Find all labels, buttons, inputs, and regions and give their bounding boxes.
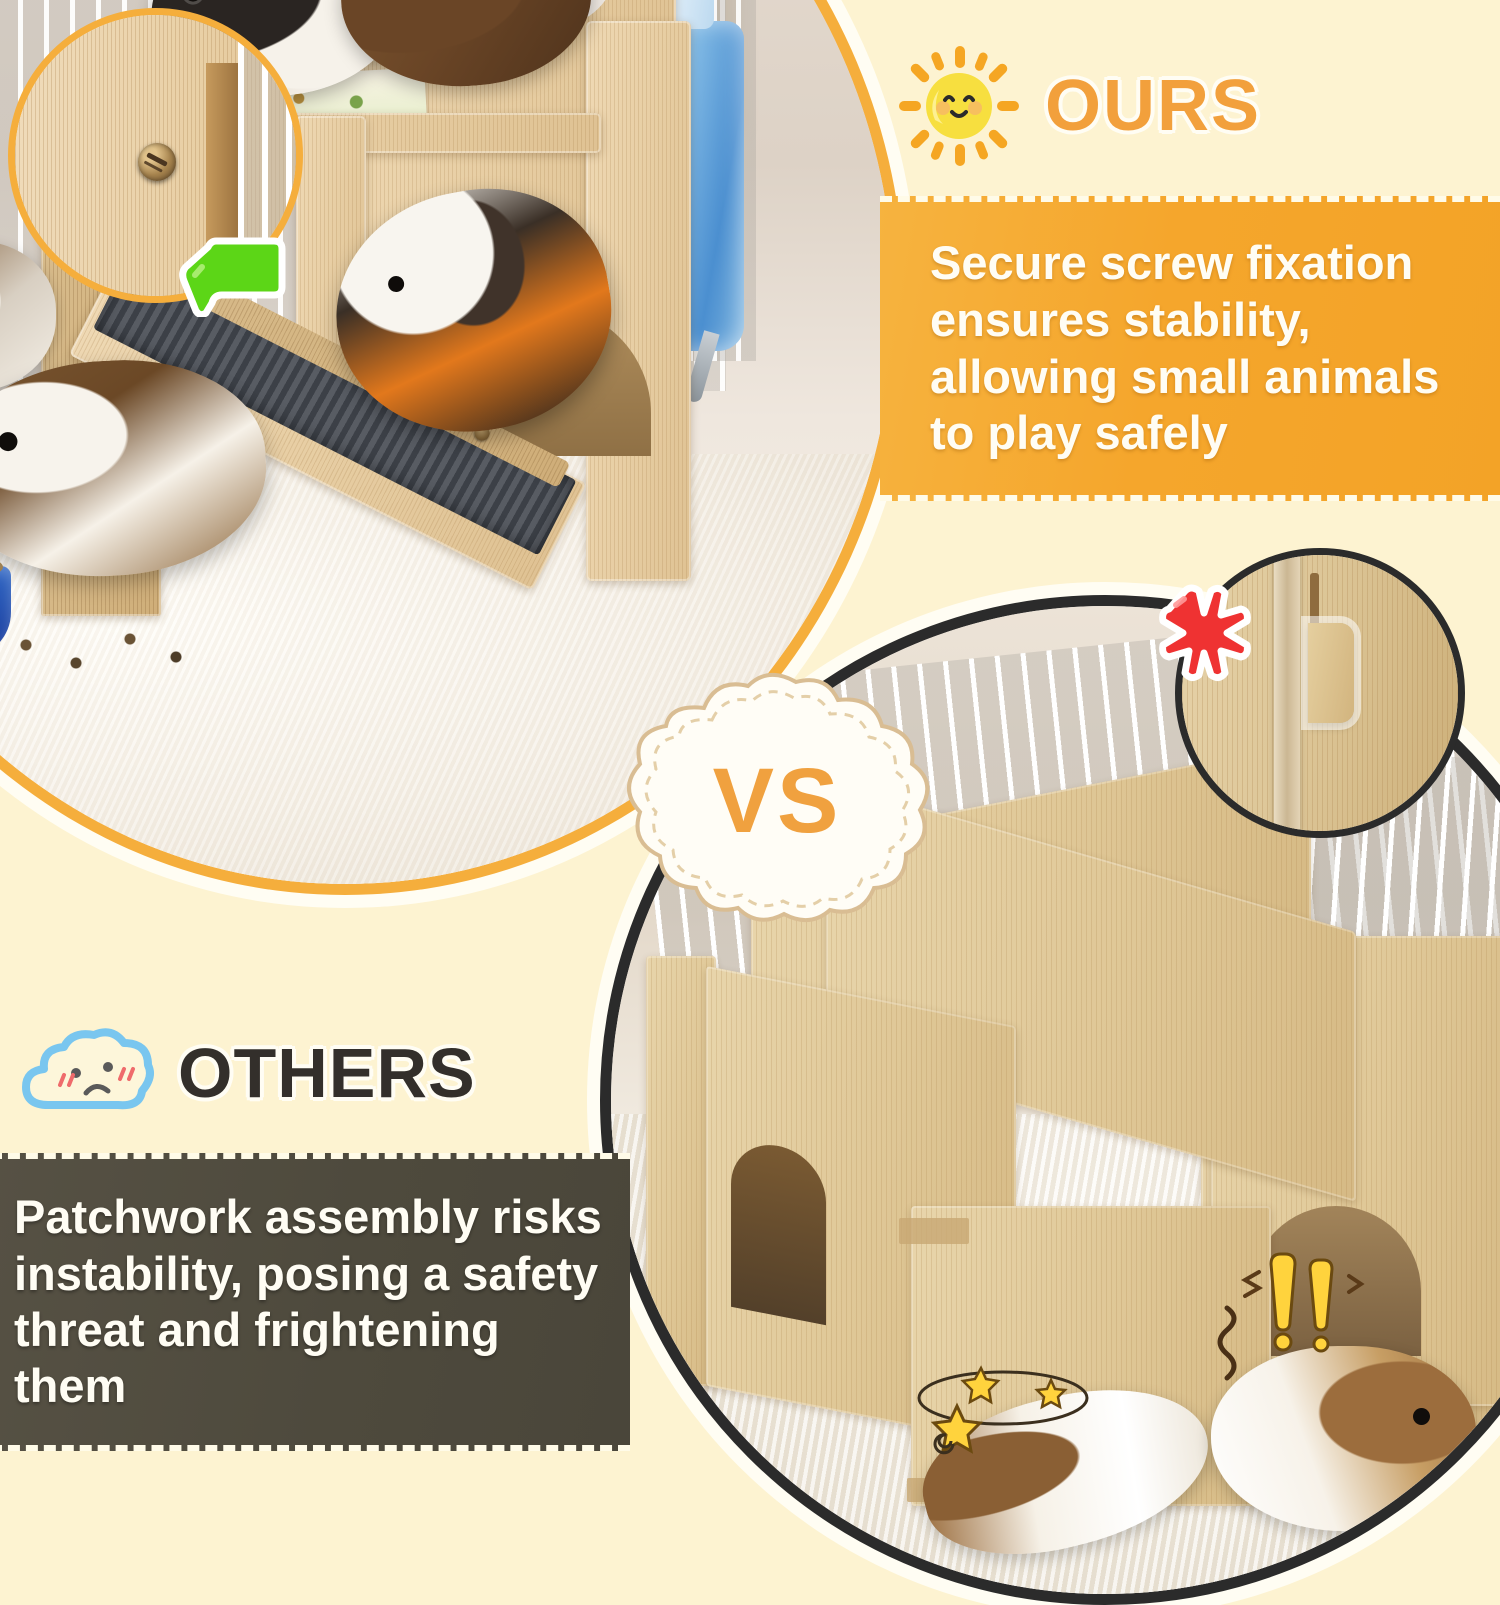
- others-header: OTHERS: [14, 1013, 574, 1133]
- happy-sun-icon: [895, 42, 1023, 170]
- ours-description-panel: Secure screw fixation ensures stability,…: [880, 196, 1500, 501]
- shock-exclamation-icon: [1177, 1246, 1367, 1431]
- vs-label: VS: [612, 672, 942, 924]
- infographic-canvas: OURS Secure screw fixation ensures stabi…: [0, 0, 1500, 1500]
- red-x-badge: [1153, 583, 1255, 683]
- green-check-badge: [178, 225, 286, 317]
- dizzy-stars-icon: [911, 1346, 1121, 1461]
- tab-joint: [899, 1218, 969, 1244]
- ours-header: OURS: [895, 36, 1485, 176]
- vs-badge: VS: [612, 672, 942, 924]
- food-pellets: [6, 621, 206, 681]
- others-description-panel: Patchwork assembly risks instability, po…: [0, 1153, 630, 1451]
- joint-tab: [1308, 623, 1354, 723]
- joint-slot: [1310, 573, 1319, 629]
- ours-description-text: Secure screw fixation ensures stability,…: [930, 235, 1482, 462]
- sad-cloud-icon: [14, 1021, 160, 1125]
- others-title: OTHERS: [178, 1033, 476, 1113]
- ours-title: OURS: [1045, 65, 1261, 147]
- panel-seam: [1274, 555, 1300, 831]
- screw-icon: [138, 143, 176, 181]
- others-description-text: Patchwork assembly risks instability, po…: [14, 1189, 608, 1415]
